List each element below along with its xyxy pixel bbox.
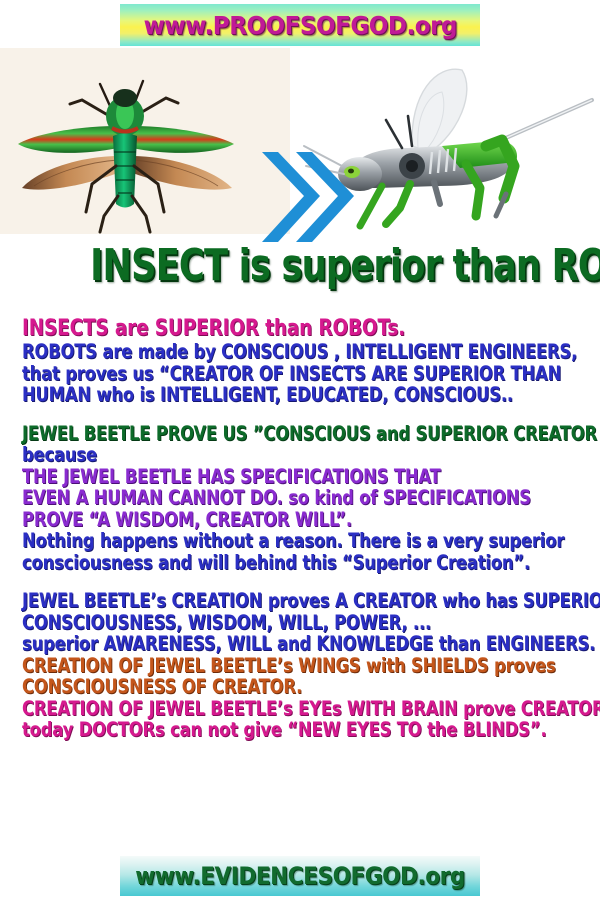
text-line: superior AWARENESS, WILL and KNOWLEDGE t… <box>22 633 497 655</box>
bottom-banner: www.EVIDENCESOFGOD.org <box>120 856 480 896</box>
paragraph-spacer <box>22 406 588 423</box>
paragraph-spacer <box>22 573 588 590</box>
jewel-beetle-photo <box>0 48 290 234</box>
body-text: INSECTS are SUPERIOR than ROBOTs. ROBOTS… <box>22 316 588 741</box>
bottom-banner-url[interactable]: www.EVIDENCESOFGOD.org <box>135 862 465 890</box>
top-banner-url[interactable]: www.PROOFSOFGOD.org <box>143 11 456 40</box>
poster-root: www.PROOFSOFGOD.org <box>0 0 600 900</box>
text-line: consciousness and will behind this “Supe… <box>22 552 497 574</box>
text-line: THE JEWEL BEETLE HAS SPECIFICATIONS THAT <box>22 466 497 488</box>
text-line: PROVE “A WISDOM, CREATOR WILL”. <box>22 509 497 531</box>
text-line: HUMAN who is INTELLIGENT, EDUCATED, CONS… <box>22 384 497 406</box>
text-line: CREATION OF JEWEL BEETLE’s EYEs WITH BRA… <box>22 698 497 720</box>
page-title: INSECT is superior than ROBOT insect <box>0 240 600 298</box>
jewel-beetle-illustration <box>0 48 290 234</box>
chevron-arrows-svg <box>258 146 354 248</box>
text-line: today DOCTORs can not give “NEW EYES TO … <box>22 719 497 741</box>
text-line: JEWEL BEETLE’s CREATION proves A CREATOR… <box>22 590 497 612</box>
text-line: EVEN A HUMAN CANNOT DO. so kind of SPECI… <box>22 487 497 509</box>
text-line: JEWEL BEETLE PROVE US ”CONSCIOUS and SUP… <box>22 423 497 445</box>
text-line: INSECTS are SUPERIOR than ROBOTs. <box>22 316 497 341</box>
text-line: Nothing happens without a reason. There … <box>22 530 497 552</box>
image-strip <box>0 48 600 234</box>
text-line: that proves us “CREATOR OF INSECTS ARE S… <box>22 363 497 385</box>
text-line: CONSCIOUSNESS OF CREATOR. <box>22 676 497 698</box>
text-line: CONSCIOUSNESS, WISDOM, WILL, POWER, ... <box>22 612 497 634</box>
text-line: ROBOTS are made by CONSCIOUS , INTELLIGE… <box>22 341 497 363</box>
text-line: CREATION OF JEWEL BEETLE’s WINGS with SH… <box>22 655 497 677</box>
top-banner: www.PROOFSOFGOD.org <box>120 4 480 46</box>
double-chevron-right-icon <box>258 146 354 248</box>
text-line: because <box>22 444 497 466</box>
